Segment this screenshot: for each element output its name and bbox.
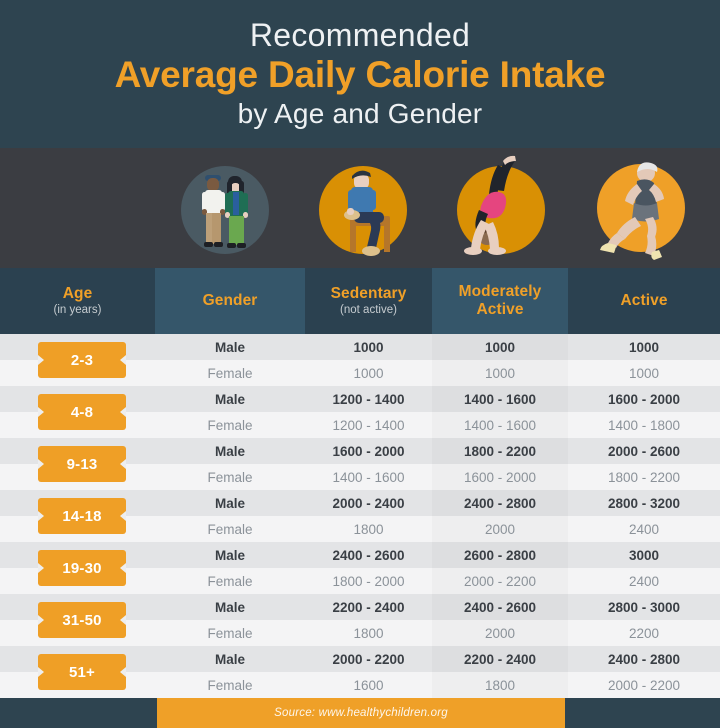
cell-gender-female: Female bbox=[155, 672, 305, 698]
column-header-moderate-label: Moderately bbox=[459, 283, 542, 301]
cell-sedentary-male: 1000 bbox=[305, 334, 432, 360]
cell-sedentary-female: 1800 bbox=[305, 620, 432, 646]
table-row: Male2000 - 24002400 - 28002800 - 3200Fem… bbox=[0, 490, 720, 542]
cell-gender-male: Male bbox=[155, 594, 305, 620]
age-badge: 14-18 bbox=[38, 498, 126, 534]
cell-sedentary-male: 2400 - 2600 bbox=[305, 542, 432, 568]
cell-sedentary-female: 1800 - 2000 bbox=[305, 568, 432, 594]
age-badge-label: 9-13 bbox=[67, 456, 98, 473]
column-header-age-label: Age bbox=[63, 285, 93, 303]
cell-active-male: 1600 - 2000 bbox=[568, 386, 720, 412]
table-row: Male2200 - 24002400 - 26002800 - 3000Fem… bbox=[0, 594, 720, 646]
cell-active-male: 2000 - 2600 bbox=[568, 438, 720, 464]
badge-notch-left-icon bbox=[38, 407, 44, 417]
footer-bar: Source: www.healthychildren.org bbox=[0, 698, 720, 728]
column-header-moderate-label2: Active bbox=[476, 301, 523, 319]
title-line-recommended: Recommended bbox=[250, 18, 470, 53]
cell-moderate-female: 1000 bbox=[432, 360, 568, 386]
cell-gender-female: Female bbox=[155, 620, 305, 646]
age-badge-label: 2-3 bbox=[71, 352, 93, 369]
column-header-sedentary-sublabel: (not active) bbox=[340, 304, 397, 318]
cell-sedentary-female: 1000 bbox=[305, 360, 432, 386]
badge-notch-right-icon bbox=[120, 615, 126, 625]
badge-notch-right-icon bbox=[120, 667, 126, 677]
cell-active-female: 1400 - 1800 bbox=[568, 412, 720, 438]
cell-active-male: 2800 - 3000 bbox=[568, 594, 720, 620]
age-badge-shape: 2-3 bbox=[38, 342, 126, 378]
cell-gender-male: Male bbox=[155, 542, 305, 568]
cell-sedentary-female: 1400 - 1600 bbox=[305, 464, 432, 490]
cell-gender-female: Female bbox=[155, 516, 305, 542]
two-children-standing-icon bbox=[155, 148, 295, 268]
badge-notch-right-icon bbox=[120, 459, 126, 469]
table-row: Male2400 - 26002600 - 28003000Female1800… bbox=[0, 542, 720, 594]
cell-moderate-female: 1600 - 2000 bbox=[432, 464, 568, 490]
age-badge-shape: 9-13 bbox=[38, 446, 126, 482]
badge-notch-right-icon bbox=[120, 407, 126, 417]
badge-notch-left-icon bbox=[38, 563, 44, 573]
age-badge-shape: 4-8 bbox=[38, 394, 126, 430]
cell-moderate-male: 2200 - 2400 bbox=[432, 646, 568, 672]
cell-gender-male: Male bbox=[155, 438, 305, 464]
cell-sedentary-male: 1200 - 1400 bbox=[305, 386, 432, 412]
cell-active-female: 1000 bbox=[568, 360, 720, 386]
age-badge: 51+ bbox=[38, 654, 126, 690]
badge-notch-right-icon bbox=[120, 511, 126, 521]
age-badge: 4-8 bbox=[38, 394, 126, 430]
badge-notch-left-icon bbox=[38, 667, 44, 677]
column-header-gender: Gender bbox=[155, 268, 305, 334]
table-row: Male1600 - 20001800 - 22002000 - 2600Fem… bbox=[0, 438, 720, 490]
cell-active-male: 1000 bbox=[568, 334, 720, 360]
person-running-icon bbox=[571, 148, 711, 268]
cell-gender-male: Male bbox=[155, 386, 305, 412]
cell-gender-female: Female bbox=[155, 360, 305, 386]
cell-moderate-male: 2600 - 2800 bbox=[432, 542, 568, 568]
age-badge-label: 19-30 bbox=[62, 560, 101, 577]
badge-notch-left-icon bbox=[38, 355, 44, 365]
age-badge-label: 14-18 bbox=[62, 508, 101, 525]
age-badge-label: 51+ bbox=[69, 664, 95, 681]
cell-active-female: 2400 bbox=[568, 516, 720, 542]
badge-notch-right-icon bbox=[120, 355, 126, 365]
cell-active-male: 2400 - 2800 bbox=[568, 646, 720, 672]
cell-active-male: 2800 - 3200 bbox=[568, 490, 720, 516]
column-header-sedentary-label: Sedentary bbox=[331, 285, 407, 303]
cell-sedentary-male: 2000 - 2400 bbox=[305, 490, 432, 516]
table-row: Male2000 - 22002200 - 24002400 - 2800Fem… bbox=[0, 646, 720, 698]
badge-notch-left-icon bbox=[38, 459, 44, 469]
footer-source-text: Source: www.healthychildren.org bbox=[274, 707, 448, 719]
cell-moderate-female: 2000 - 2200 bbox=[432, 568, 568, 594]
title-line-main: Average Daily Calorie Intake bbox=[115, 52, 606, 97]
badge-notch-left-icon bbox=[38, 511, 44, 521]
badge-notch-right-icon bbox=[120, 563, 126, 573]
age-badge-shape: 31-50 bbox=[38, 602, 126, 638]
column-header-active-label: Active bbox=[620, 292, 667, 310]
age-badge: 19-30 bbox=[38, 550, 126, 586]
table-header: Age (in years) Gender Sedentary (not act… bbox=[0, 268, 720, 334]
cell-sedentary-female: 1800 bbox=[305, 516, 432, 542]
cell-gender-female: Female bbox=[155, 464, 305, 490]
cell-sedentary-male: 2000 - 2200 bbox=[305, 646, 432, 672]
cell-moderate-male: 1400 - 1600 bbox=[432, 386, 568, 412]
cell-moderate-female: 1400 - 1600 bbox=[432, 412, 568, 438]
age-badge: 31-50 bbox=[38, 602, 126, 638]
cell-sedentary-male: 2200 - 2400 bbox=[305, 594, 432, 620]
column-header-sedentary: Sedentary (not active) bbox=[305, 268, 432, 334]
cell-moderate-female: 1800 bbox=[432, 672, 568, 698]
age-badge: 2-3 bbox=[38, 342, 126, 378]
cell-moderate-male: 2400 - 2800 bbox=[432, 490, 568, 516]
cell-gender-male: Male bbox=[155, 490, 305, 516]
title-band: Recommended Average Daily Calorie Intake… bbox=[0, 0, 720, 148]
table-row: Male1200 - 14001400 - 16001600 - 2000Fem… bbox=[0, 386, 720, 438]
column-header-age-sublabel: (in years) bbox=[54, 304, 102, 318]
cell-sedentary-female: 1200 - 1400 bbox=[305, 412, 432, 438]
column-header-age: Age (in years) bbox=[0, 268, 155, 334]
cell-moderate-male: 1800 - 2200 bbox=[432, 438, 568, 464]
cell-moderate-male: 2400 - 2600 bbox=[432, 594, 568, 620]
cell-sedentary-female: 1600 bbox=[305, 672, 432, 698]
age-badge-label: 31-50 bbox=[62, 612, 101, 629]
age-badge-shape: 19-30 bbox=[38, 550, 126, 586]
table-body: Male100010001000Female1000100010002-3Mal… bbox=[0, 334, 720, 698]
cell-moderate-female: 2000 bbox=[432, 516, 568, 542]
age-badge-label: 4-8 bbox=[71, 404, 93, 421]
table-row: Male100010001000Female1000100010002-3 bbox=[0, 334, 720, 386]
age-badge-shape: 14-18 bbox=[38, 498, 126, 534]
cell-gender-female: Female bbox=[155, 568, 305, 594]
cell-active-female: 1800 - 2200 bbox=[568, 464, 720, 490]
age-badge: 9-13 bbox=[38, 446, 126, 482]
cell-moderate-male: 1000 bbox=[432, 334, 568, 360]
title-line-subtitle: by Age and Gender bbox=[238, 97, 483, 130]
column-header-gender-label: Gender bbox=[203, 292, 258, 310]
person-sitting-on-chair-icon bbox=[295, 148, 431, 268]
cell-gender-male: Male bbox=[155, 334, 305, 360]
cell-moderate-female: 2000 bbox=[432, 620, 568, 646]
cell-gender-male: Male bbox=[155, 646, 305, 672]
person-yoga-handstand-icon bbox=[431, 148, 571, 268]
illustration-band bbox=[0, 148, 720, 268]
cell-sedentary-male: 1600 - 2000 bbox=[305, 438, 432, 464]
age-badge-shape: 51+ bbox=[38, 654, 126, 690]
calorie-intake-infographic: Recommended Average Daily Calorie Intake… bbox=[0, 0, 720, 728]
column-header-moderately-active: Moderately Active bbox=[432, 268, 568, 334]
cell-active-female: 2200 bbox=[568, 620, 720, 646]
cell-gender-female: Female bbox=[155, 412, 305, 438]
column-header-active: Active bbox=[568, 268, 720, 334]
cell-active-female: 2400 bbox=[568, 568, 720, 594]
footer-source-band: Source: www.healthychildren.org bbox=[157, 698, 565, 728]
cell-active-female: 2000 - 2200 bbox=[568, 672, 720, 698]
badge-notch-left-icon bbox=[38, 615, 44, 625]
cell-active-male: 3000 bbox=[568, 542, 720, 568]
